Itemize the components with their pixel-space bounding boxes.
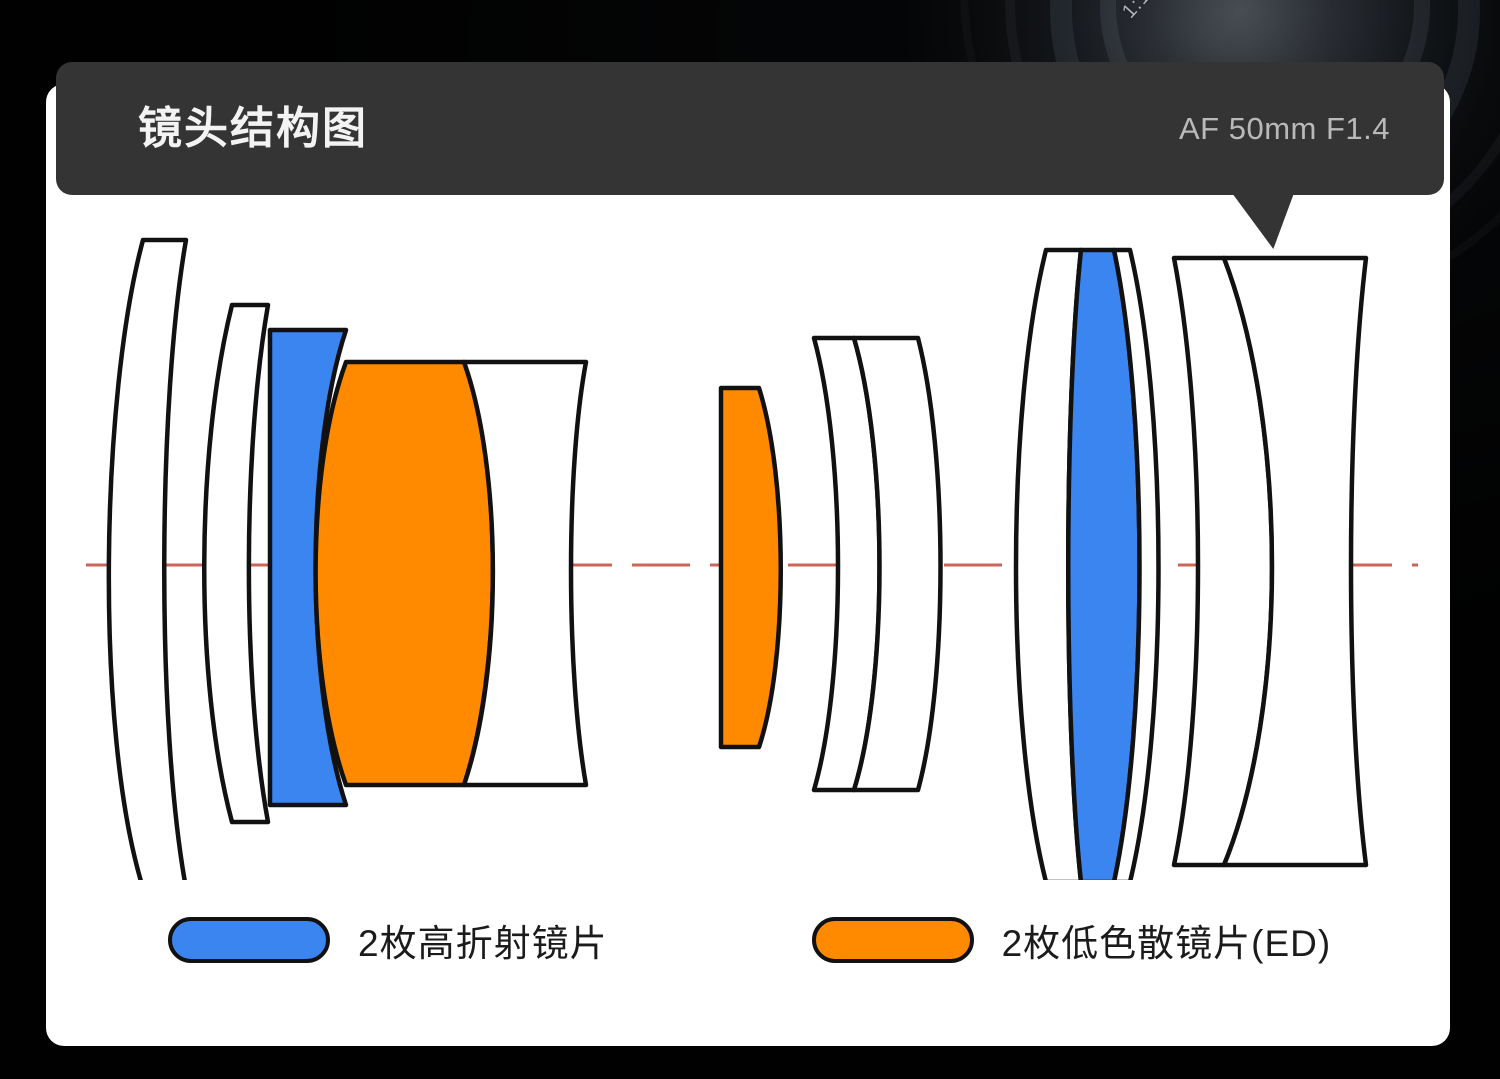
lens-diagram-svg (46, 210, 1450, 880)
page-title: 镜头结构图 (138, 107, 368, 151)
header-bubble: 镜头结构图 AF 50mm F1.4 (56, 62, 1444, 195)
lens-model-label: AF 50mm F1.4 (1179, 113, 1390, 144)
lens-element-6 (721, 388, 781, 747)
lens-element-4 (316, 362, 493, 785)
legend-label-low-dispersion: 2枚低色散镜片(ED) (1002, 913, 1332, 967)
lens-element-1 (109, 240, 186, 880)
legend-item-high-refractive: 2枚高折射镜片 (168, 913, 608, 967)
lens-cross-section-diagram (46, 210, 1450, 880)
legend-swatch-orange-icon (812, 917, 974, 963)
legend-swatch-blue-icon (168, 917, 330, 963)
legend-label-high-refractive: 2枚高折射镜片 (358, 913, 608, 967)
legend: 2枚高折射镜片 2枚低色散镜片(ED) (46, 900, 1450, 980)
legend-item-low-dispersion: 2枚低色散镜片(ED) (812, 913, 1332, 967)
